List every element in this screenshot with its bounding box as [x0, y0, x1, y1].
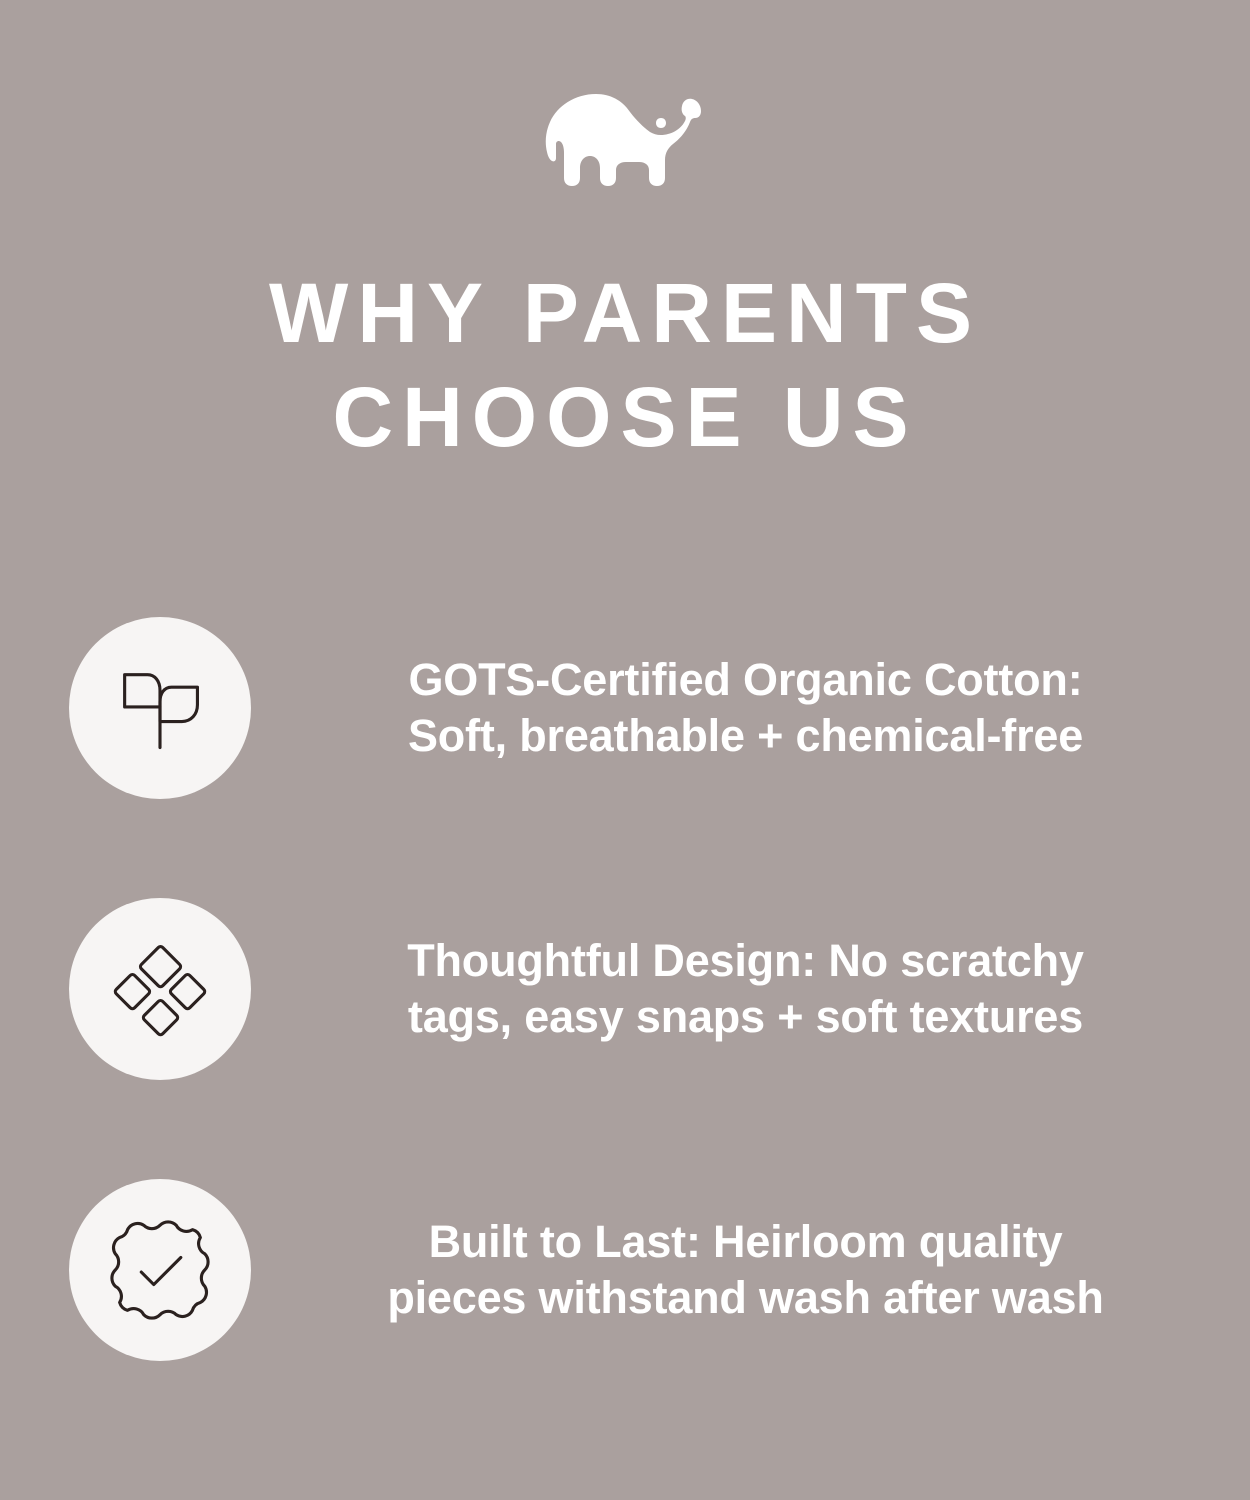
feature-label: Built to Last: Heirloom quality pieces w… [283, 1214, 1208, 1326]
feature-icon-badge [69, 1179, 251, 1361]
feature-icon-badge [69, 617, 251, 799]
brand-logo [535, 78, 715, 193]
scalloped-badge-check-icon [108, 1218, 212, 1322]
feature-item-organic-cotton: GOTS-Certified Organic Cotton: Soft, bre… [0, 617, 1250, 799]
feature-item-thoughtful-design: Thoughtful Design: No scratchy tags, eas… [0, 898, 1250, 1080]
feature-item-built-to-last: Built to Last: Heirloom quality pieces w… [0, 1179, 1250, 1361]
sprout-leaf-icon [108, 656, 212, 760]
feature-label: GOTS-Certified Organic Cotton: Soft, bre… [283, 652, 1208, 764]
page-title: WHY PARENTS CHOOSE US [75, 261, 1175, 469]
feature-label: Thoughtful Design: No scratchy tags, eas… [283, 933, 1208, 1045]
feature-icon-badge [69, 898, 251, 1080]
feature-list: GOTS-Certified Organic Cotton: Soft, bre… [0, 617, 1250, 1361]
elephant-logo-icon [535, 78, 715, 193]
why-parents-choose-us-panel: WHY PARENTS CHOOSE US GOTS-Certified Org… [0, 0, 1250, 1500]
four-diamonds-icon [108, 937, 212, 1041]
